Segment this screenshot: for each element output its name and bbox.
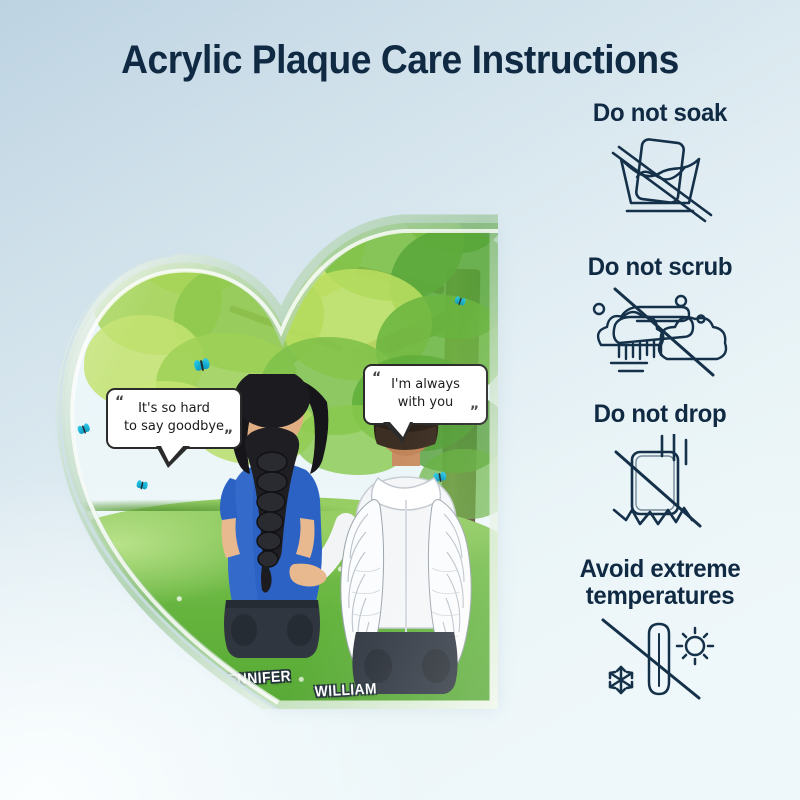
twig [199,160,307,193]
care-item-do-not-scrub: Do not scrub [520,254,800,377]
no-scrub-icon [585,287,735,377]
care-item-do-not-soak: Do not soak [520,100,800,228]
bubble-tail [383,422,413,443]
twig [276,195,416,222]
speech-bubble-left: “ It's so hard to say goodbye ” [106,388,242,449]
care-item-avoid-extreme-temperatures: Avoid extreme temperatures [520,556,800,701]
care-label-avoid-extreme-line2: temperatures [526,583,795,610]
bubble-right-line1: I'm always [379,376,472,394]
name-label-william: WILLIAM [314,680,377,700]
care-instructions-list: Do not soak Do not scrub [520,100,800,707]
bubble-tail [156,446,190,468]
speech-bubble-right: “ I'm always with you ” [363,364,488,425]
quote-open-icon: “ [115,395,124,409]
no-soak-icon [605,133,715,228]
no-drop-icon [600,434,720,534]
bubble-left-line2: to say goodbye [122,418,226,436]
plaque-artwork: JENNIFER WILLIAM “ It's so hard to say g… [46,119,498,709]
care-item-do-not-drop: Do not drop [520,401,800,534]
care-label-do-not-soak: Do not soak [526,100,795,127]
plaque-artwork-clip: JENNIFER WILLIAM “ It's so hard to say g… [28,105,518,730]
twig [378,141,463,184]
care-label-avoid-extreme-line1: Avoid extreme [526,556,795,583]
quote-close-icon: ” [470,405,479,419]
care-label-do-not-scrub: Do not scrub [526,254,795,281]
quote-open-icon: “ [372,371,381,385]
page-root: Acrylic Plaque Care Instructions [0,0,800,800]
bubble-right-line2: with you [379,394,472,412]
bubble-left-line1: It's so hard [122,400,226,418]
acrylic-plaque: JENNIFER WILLIAM “ It's so hard to say g… [28,105,518,730]
page-title: Acrylic Plaque Care Instructions [28,38,772,83]
care-label-do-not-drop: Do not drop [526,401,795,428]
quote-close-icon: ” [224,429,233,443]
no-extreme-temperature-icon [595,616,725,701]
